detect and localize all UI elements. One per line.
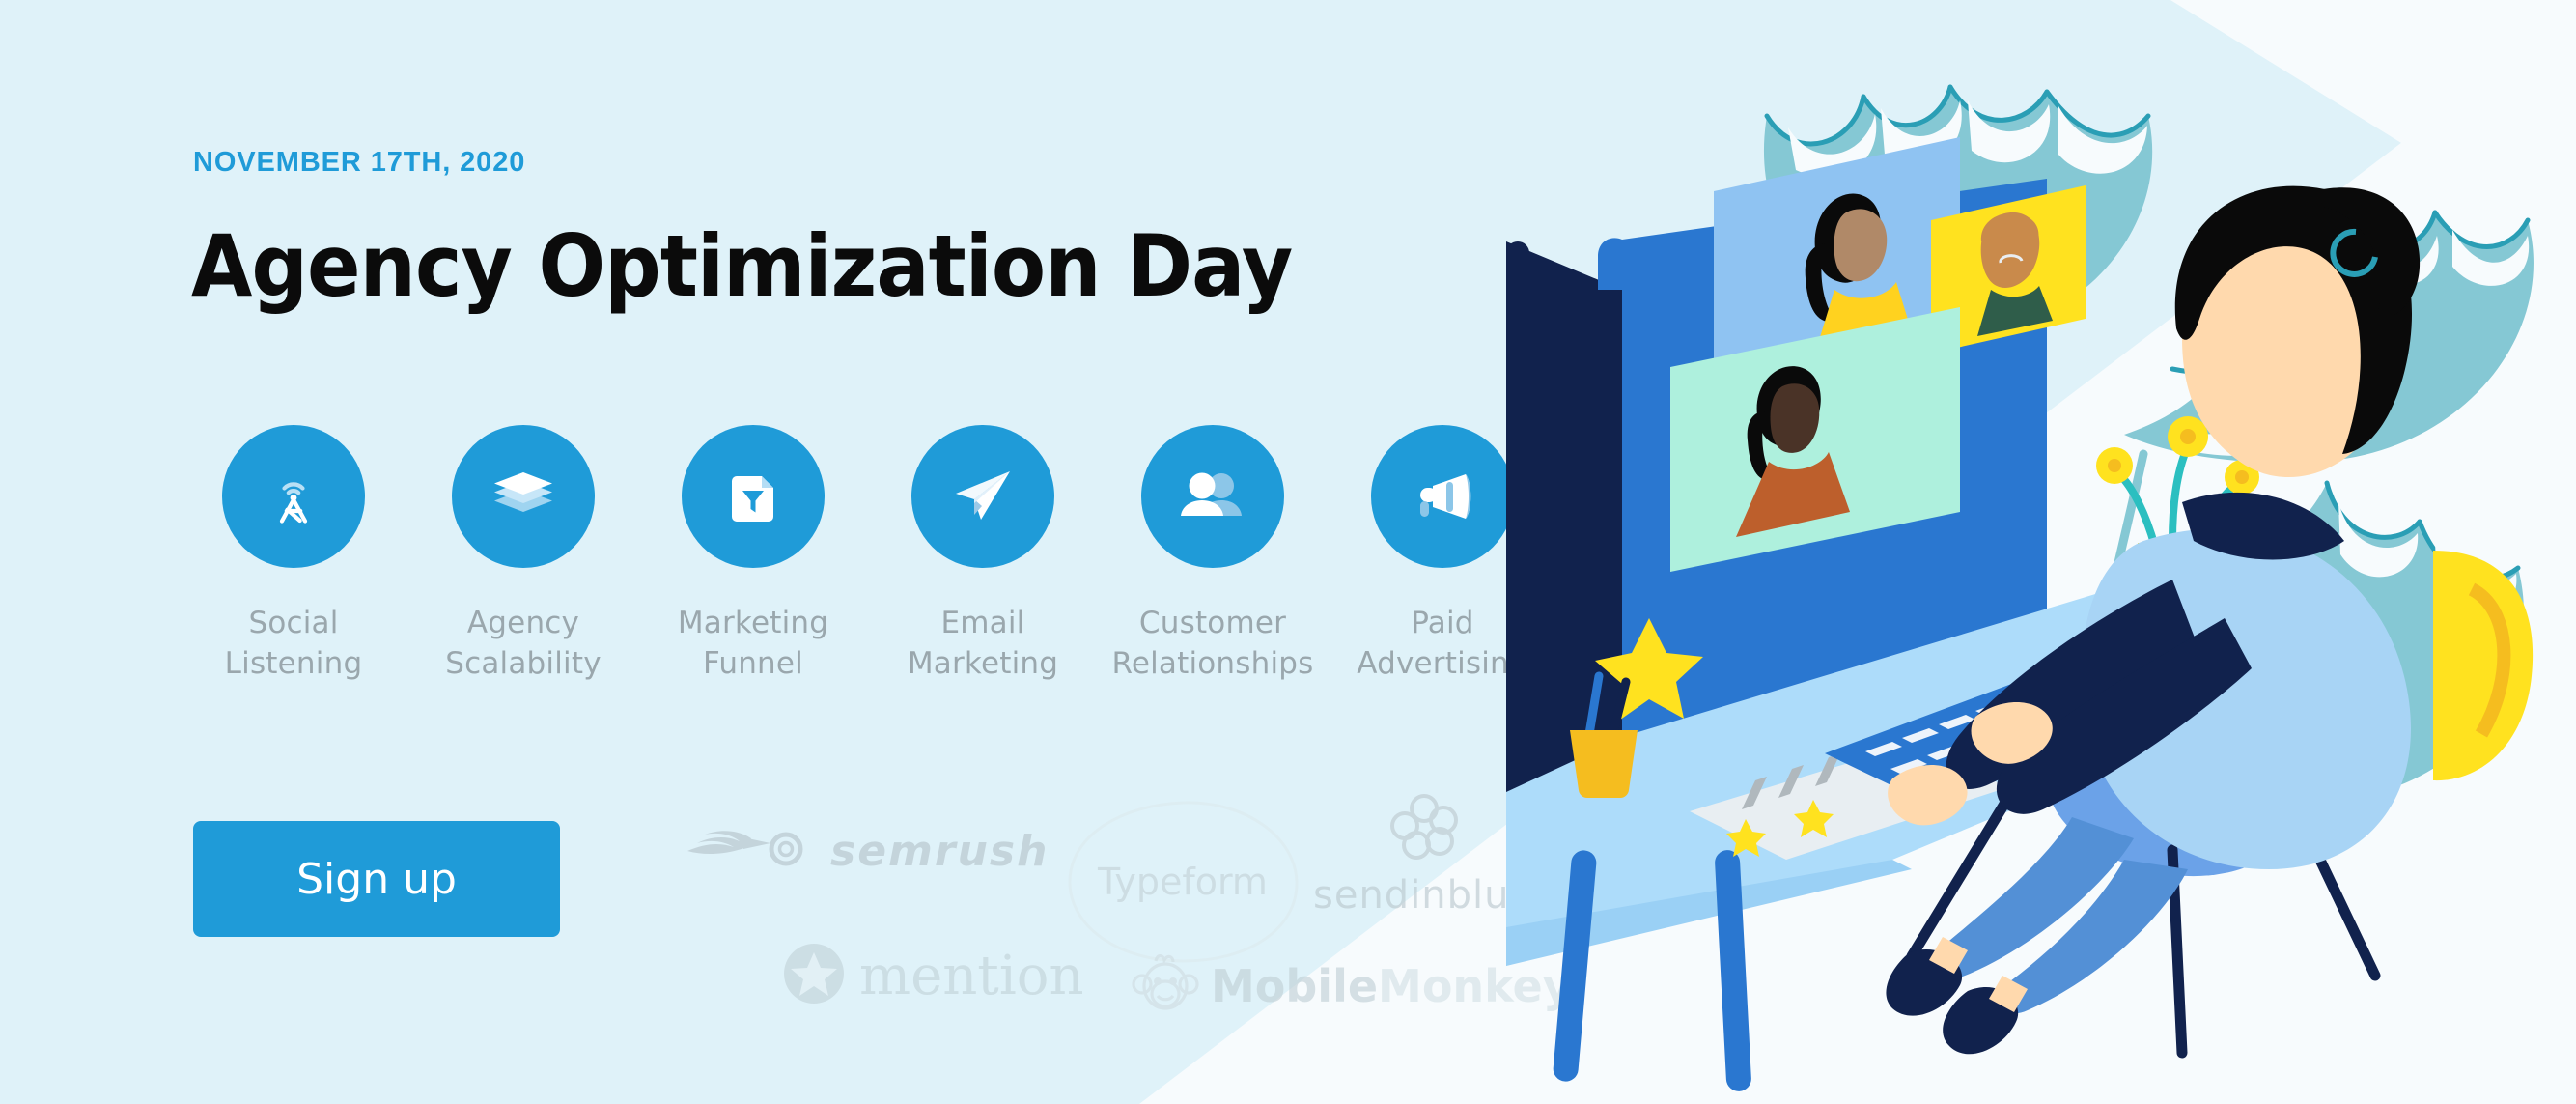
feature-icon-circle xyxy=(222,425,365,568)
partner-logo-sendinblue[interactable]: sendinblue xyxy=(1313,787,1534,918)
feature-label: Paid Advertising xyxy=(1357,603,1528,684)
feature-icon-circle xyxy=(1141,425,1284,568)
sign-up-button[interactable]: Sign up xyxy=(193,821,560,937)
feature-item-email-marketing[interactable]: Email Marketing xyxy=(868,425,1098,684)
partner-label: sendinblue xyxy=(1313,873,1534,918)
partner-label: semrush xyxy=(830,827,1049,876)
partner-label-bold: Mobile xyxy=(1211,960,1378,1012)
broadcast-tower-icon xyxy=(258,461,329,532)
layers-icon xyxy=(487,460,560,533)
partner-logo-semrush[interactable]: semrush xyxy=(686,826,1049,877)
feature-label: Social Listening xyxy=(225,603,363,684)
feature-list: Social Listening Agency Scalability xyxy=(179,425,1557,684)
sendinblue-pinwheel-icon xyxy=(1384,787,1465,869)
paper-plane-icon xyxy=(946,460,1020,533)
megaphone-icon xyxy=(1404,463,1481,530)
feature-icon-circle xyxy=(1371,425,1514,568)
feature-label: Agency Scalability xyxy=(445,603,602,684)
event-banner: NOVEMBER 17TH, 2020 Agency Optimization … xyxy=(0,0,2576,1104)
feature-item-social-listening[interactable]: Social Listening xyxy=(179,425,408,684)
partner-label: Typeform xyxy=(1098,861,1268,903)
semrush-flame-icon xyxy=(686,826,813,877)
banner-content: NOVEMBER 17TH, 2020 Agency Optimization … xyxy=(0,0,1583,1104)
feature-icon-circle xyxy=(911,425,1054,568)
page-title: Agency Optimization Day xyxy=(191,224,1292,309)
feature-item-agency-scalability[interactable]: Agency Scalability xyxy=(408,425,638,684)
partner-logos: semrush Typeform xyxy=(676,787,1526,1048)
document-funnel-icon xyxy=(721,465,785,528)
feature-icon-circle xyxy=(452,425,595,568)
star-circle-icon xyxy=(782,942,846,1010)
two-users-icon xyxy=(1174,463,1251,530)
remote-worker-illustration xyxy=(1506,0,2576,1104)
feature-label: Customer Relationships xyxy=(1111,603,1313,684)
feature-label: Marketing Funnel xyxy=(678,603,828,684)
feature-item-marketing-funnel[interactable]: Marketing Funnel xyxy=(638,425,868,684)
partner-logo-typeform[interactable]: Typeform xyxy=(1062,797,1303,966)
monkey-head-icon xyxy=(1130,949,1201,1022)
event-date: NOVEMBER 17TH, 2020 xyxy=(193,147,525,179)
partner-label: mention xyxy=(859,945,1084,1007)
feature-item-customer-relationships[interactable]: Customer Relationships xyxy=(1098,425,1328,684)
feature-icon-circle xyxy=(682,425,825,568)
partner-logo-mention[interactable]: mention xyxy=(782,942,1084,1010)
feature-label: Email Marketing xyxy=(908,603,1058,684)
illustration-svg xyxy=(1506,0,2576,1104)
